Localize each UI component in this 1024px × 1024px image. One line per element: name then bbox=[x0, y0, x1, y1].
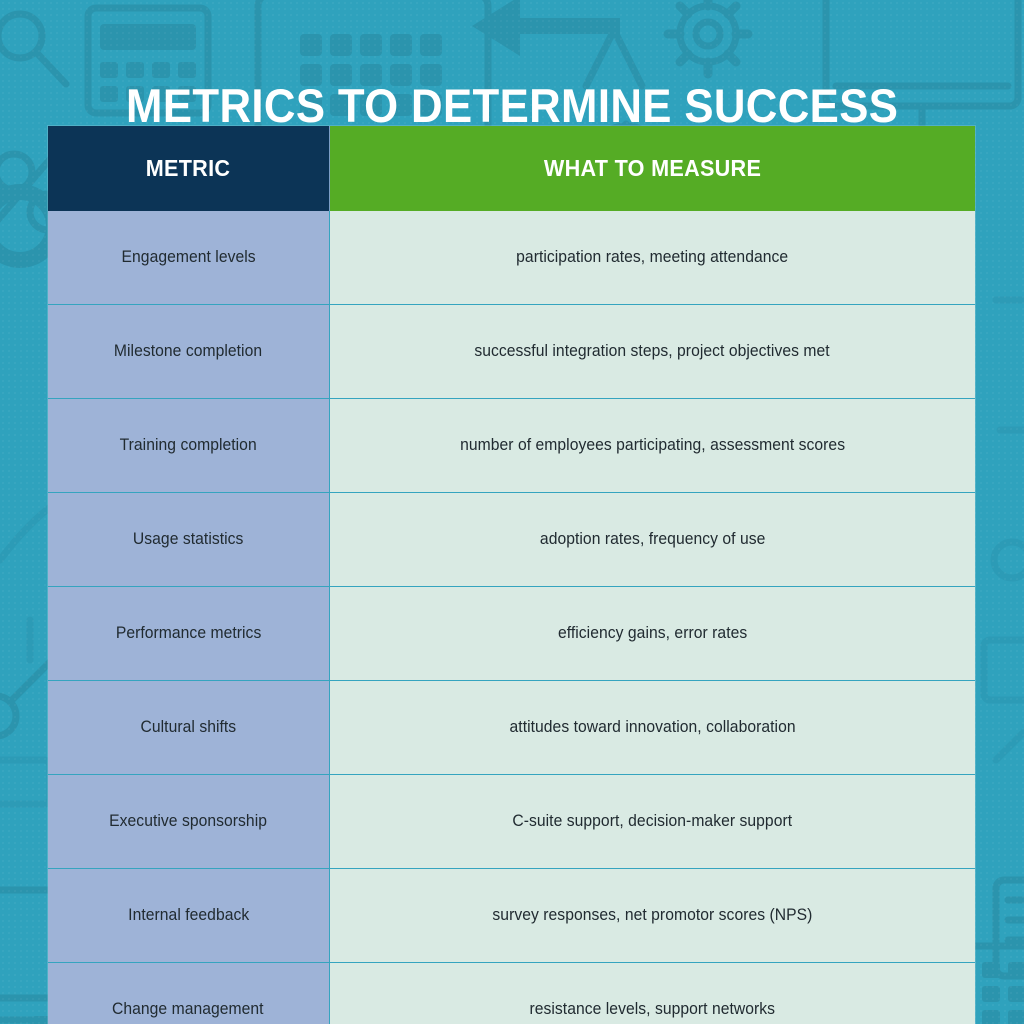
cell-metric-label: Internal feedback bbox=[128, 906, 249, 925]
table-body: Engagement levelsparticipation rates, me… bbox=[48, 211, 975, 1024]
cell-metric: Cultural shifts bbox=[48, 681, 329, 775]
metrics-table: METRIC WHAT TO MEASURE Engagement levels… bbox=[48, 126, 975, 1024]
cell-what-to-measure: successful integration steps, project ob… bbox=[329, 305, 975, 399]
cell-what-to-measure-label: efficiency gains, error rates bbox=[558, 624, 747, 643]
cell-metric-label: Executive sponsorship bbox=[109, 812, 267, 831]
cell-metric: Milestone completion bbox=[48, 305, 329, 399]
table-header: METRIC WHAT TO MEASURE bbox=[48, 126, 975, 211]
cell-what-to-measure: number of employees participating, asses… bbox=[329, 399, 975, 493]
table-row: Training completionnumber of employees p… bbox=[48, 399, 975, 493]
table-row: Cultural shiftsattitudes toward innovati… bbox=[48, 681, 975, 775]
table-row: Performance metricsefficiency gains, err… bbox=[48, 587, 975, 681]
cell-what-to-measure-label: survey responses, net promotor scores (N… bbox=[492, 906, 812, 925]
cell-metric-label: Cultural shifts bbox=[140, 718, 236, 737]
cell-what-to-measure-label: participation rates, meeting attendance bbox=[516, 248, 788, 267]
cell-metric-label: Engagement levels bbox=[121, 248, 255, 267]
column-header-metric-label: METRIC bbox=[146, 155, 231, 182]
cell-metric: Change management bbox=[48, 963, 329, 1024]
table-row: Internal feedbacksurvey responses, net p… bbox=[48, 869, 975, 963]
table-row: Change managementresistance levels, supp… bbox=[48, 963, 975, 1024]
table-row: Usage statisticsadoption rates, frequenc… bbox=[48, 493, 975, 587]
cell-metric-label: Milestone completion bbox=[114, 342, 262, 361]
table-row: Engagement levelsparticipation rates, me… bbox=[48, 211, 975, 305]
cell-metric: Internal feedback bbox=[48, 869, 329, 963]
cell-what-to-measure-label: adoption rates, frequency of use bbox=[540, 530, 765, 549]
cell-what-to-measure-label: attitudes toward innovation, collaborati… bbox=[509, 718, 795, 737]
cell-what-to-measure-label: successful integration steps, project ob… bbox=[475, 342, 830, 361]
table-row: Executive sponsorshipC-suite support, de… bbox=[48, 775, 975, 869]
cell-metric: Performance metrics bbox=[48, 587, 329, 681]
cell-what-to-measure: resistance levels, support networks bbox=[329, 963, 975, 1024]
cell-metric: Executive sponsorship bbox=[48, 775, 329, 869]
column-header-metric: METRIC bbox=[48, 126, 329, 211]
cell-what-to-measure: C-suite support, decision-maker support bbox=[329, 775, 975, 869]
cell-metric: Engagement levels bbox=[48, 211, 329, 305]
cell-what-to-measure: participation rates, meeting attendance bbox=[329, 211, 975, 305]
cell-what-to-measure-label: number of employees participating, asses… bbox=[460, 436, 845, 455]
cell-metric-label: Training completion bbox=[120, 436, 257, 455]
column-header-what-to-measure: WHAT TO MEASURE bbox=[329, 126, 975, 211]
cell-metric: Training completion bbox=[48, 399, 329, 493]
cell-what-to-measure: survey responses, net promotor scores (N… bbox=[329, 869, 975, 963]
table-row: Milestone completionsuccessful integrati… bbox=[48, 305, 975, 399]
table-header-row: METRIC WHAT TO MEASURE bbox=[48, 126, 975, 211]
cell-what-to-measure-label: resistance levels, support networks bbox=[529, 1000, 775, 1019]
cell-metric-label: Change management bbox=[112, 1000, 264, 1019]
column-header-what-to-measure-label: WHAT TO MEASURE bbox=[544, 155, 761, 182]
cell-what-to-measure-label: C-suite support, decision-maker support bbox=[512, 812, 792, 831]
cell-what-to-measure: efficiency gains, error rates bbox=[329, 587, 975, 681]
cell-metric-label: Performance metrics bbox=[116, 624, 261, 643]
cell-metric: Usage statistics bbox=[48, 493, 329, 587]
cell-metric-label: Usage statistics bbox=[133, 530, 244, 549]
cell-what-to-measure: adoption rates, frequency of use bbox=[329, 493, 975, 587]
cell-what-to-measure: attitudes toward innovation, collaborati… bbox=[329, 681, 975, 775]
